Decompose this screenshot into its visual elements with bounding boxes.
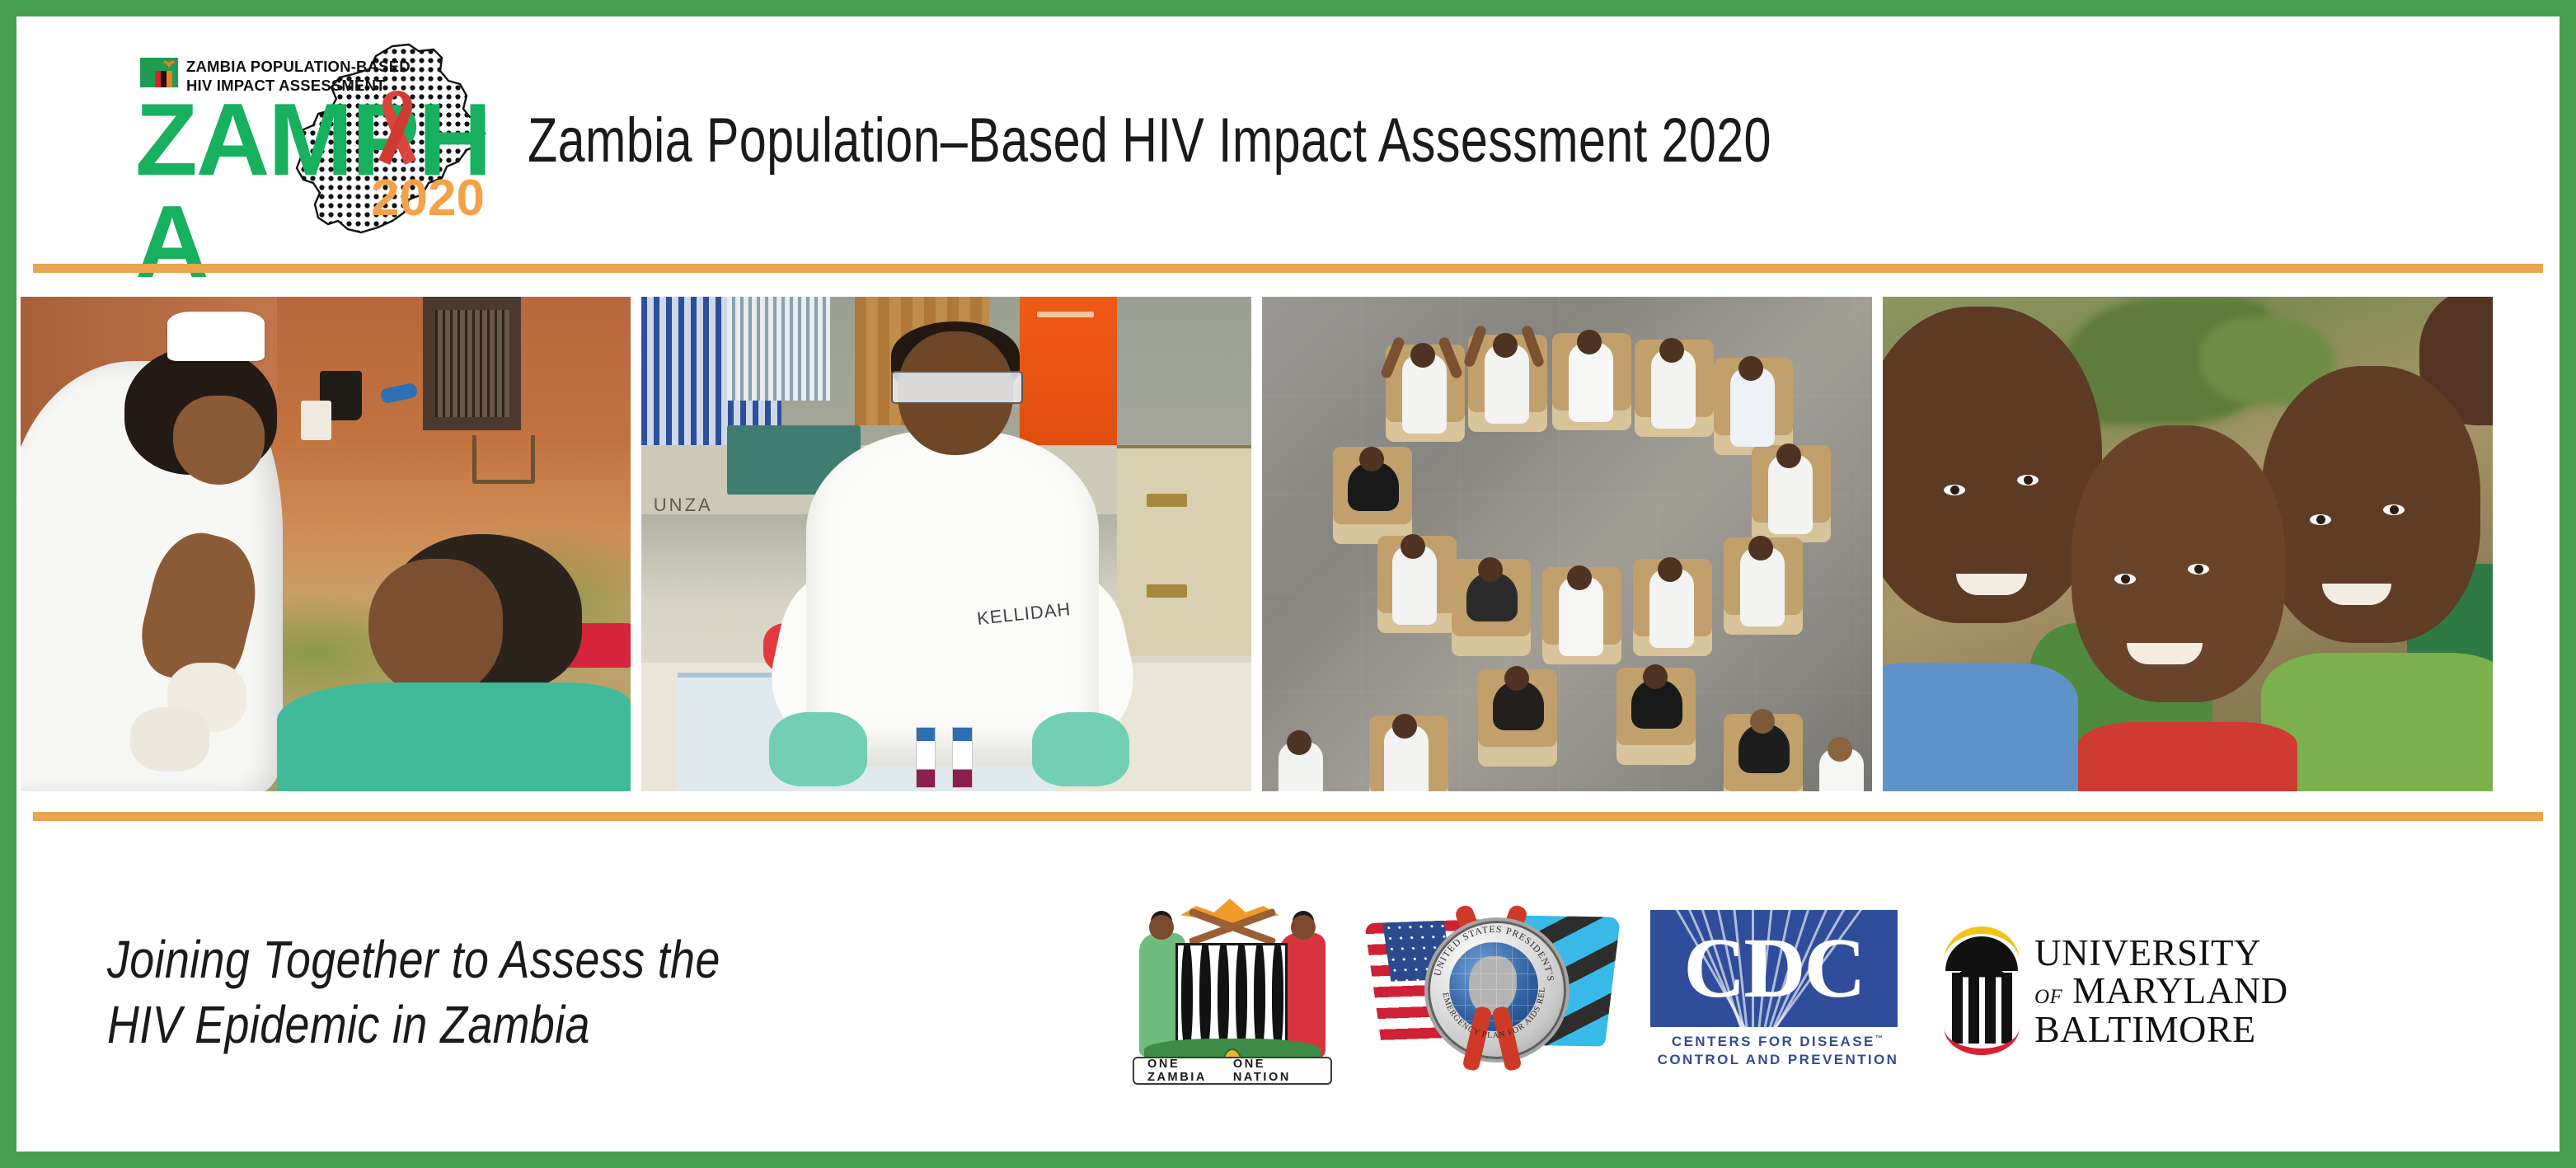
motto-left: ONE ZAMBIA (1147, 1058, 1233, 1084)
zambia-coat-of-arms-logo: ONE ZAMBIA ONE NATION (1129, 894, 1335, 1091)
university-of-maryland-baltimore-logo: UNIVERSITY of MARYLAND BALTIMORE (1944, 914, 2290, 1071)
cdc-caption: CENTERS FOR DISEASE™ CONTROL AND PREVENT… (1650, 1033, 1906, 1069)
shield-icon (1175, 943, 1288, 1048)
pepfar-logo: UNITED STATES PRESIDENT'S EMERGENCY PLAN… (1373, 898, 1612, 1087)
poster-header: ZAMBIA POPULATION-BASED HIV IMPACT ASSES… (16, 16, 2560, 264)
photo-survey-team (1262, 297, 1872, 791)
tagline-line-1: Joining Together to Assess the (107, 930, 720, 989)
cdc-acronym: CDC (1650, 910, 1898, 1027)
umb-line-3: BALTIMORE (2034, 1011, 2288, 1049)
page-title: Zambia Population–Based HIV Impact Asses… (528, 105, 1771, 176)
aids-ribbon-icon (368, 86, 426, 176)
lockup-line-1: ZAMBIA POPULATION-BASED (186, 58, 411, 75)
umb-line-2: MARYLAND (2072, 970, 2288, 1011)
zamphia-year: 2020 (371, 173, 485, 224)
svg-text:UNITED STATES PRESIDENT'S: UNITED STATES PRESIDENT'S (1433, 924, 1555, 982)
umb-columns-icon (1944, 926, 2020, 1058)
divider-top (33, 264, 2543, 273)
cdc-blue-box: CDC (1650, 910, 1898, 1027)
poster-footer: Joining Together to Assess the HIV Epide… (16, 833, 2560, 1152)
cdc-trademark: ™ (1875, 1034, 1884, 1042)
pepfar-text-top: UNITED STATES PRESIDENT'S (1433, 924, 1555, 982)
motto-right: ONE NATION (1233, 1058, 1317, 1084)
divider-bottom (33, 812, 2543, 821)
motto-scroll: ONE ZAMBIA ONE NATION (1133, 1057, 1332, 1085)
pepfar-seal-text: UNITED STATES PRESIDENT'S EMERGENCY PLAN… (1424, 917, 1563, 1056)
umb-wordmark: UNIVERSITY of MARYLAND BALTIMORE (2034, 935, 2288, 1049)
tagline-line-2: HIV Epidemic in Zambia (107, 995, 590, 1054)
photo-nurse-blood-draw (21, 297, 631, 791)
cdc-caption-line-1: CENTERS FOR DISEASE (1672, 1034, 1875, 1049)
zamphia-logo: ZAMBIA POPULATION-BASED HIV IMPACT ASSES… (124, 33, 511, 247)
poster-tagline: Joining Together to Assess the HIV Epide… (107, 927, 966, 1056)
poster-frame: ZAMBIA POPULATION-BASED HIV IMPACT ASSES… (16, 16, 2560, 1152)
umb-of: of (2034, 977, 2062, 1010)
photo-strip: UNZA KELLIDAH (16, 297, 2560, 791)
partner-logos: ONE ZAMBIA ONE NATION (1129, 894, 2290, 1091)
cdc-logo: CDC CENTERS FOR DISEASE™ CONTROL AND PRE… (1650, 910, 1906, 1075)
umb-line-1: UNIVERSITY (2034, 935, 2288, 973)
cdc-caption-line-2: CONTROL AND PREVENTION (1658, 1052, 1899, 1067)
photo-children (1883, 297, 2493, 791)
bench-label-unza: UNZA (654, 495, 763, 554)
photo-lab-technician: UNZA KELLIDAH (641, 297, 1251, 791)
